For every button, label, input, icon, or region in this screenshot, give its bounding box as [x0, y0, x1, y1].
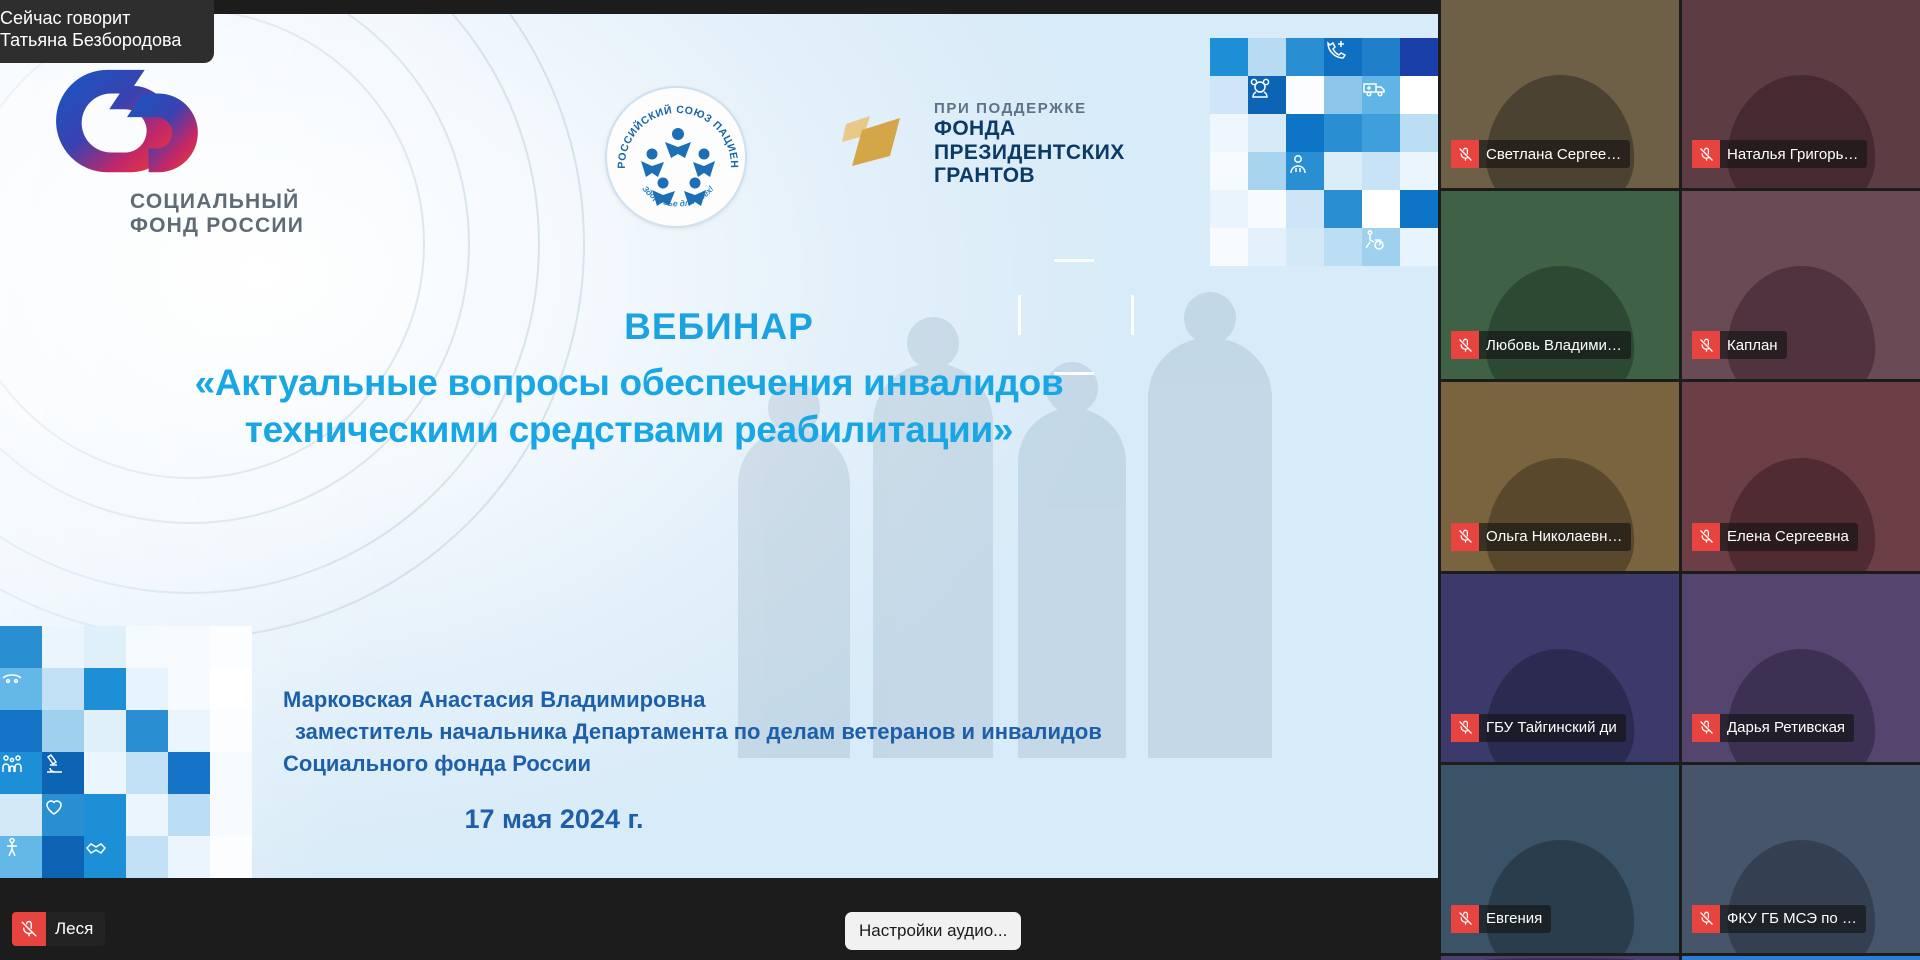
family-group-icon	[0, 752, 42, 794]
mic-muted-icon	[1692, 905, 1720, 933]
sfr-monogram-icon	[40, 60, 208, 188]
active-speaker-name: Татьяна Безбородова	[0, 30, 200, 52]
mic-muted-icon	[1451, 905, 1479, 933]
participant-tile[interactable]: Наталья Григорь…	[1682, 0, 1920, 188]
grants-logo-text: ПРИ ПОДДЕРЖКЕ ФОНДА ПРЕЗИДЕНТСКИХ ГРАНТО…	[934, 100, 1125, 188]
sfr-logo-line2: ФОНД РОССИИ	[130, 214, 308, 238]
participant-name-plate: Наталья Григорь…	[1692, 140, 1867, 168]
slide-speaker-block: Марковская Анастасия Владимировна замест…	[283, 684, 1102, 780]
participant-name-plate: Елена Сергеевна	[1692, 523, 1858, 551]
slide-kicker: ВЕБИНАР	[0, 306, 1438, 348]
participant-tile[interactable]: Каплан	[1682, 191, 1920, 379]
participant-tile[interactable]: Евгения	[1441, 765, 1679, 953]
audio-settings-tooltip[interactable]: Настройки аудио...	[845, 912, 1021, 950]
grants-line1: ФОНДА	[934, 117, 1125, 141]
presentation-slide: СОЦИАЛЬНЫЙ ФОНД РОССИИ ВСЕРОССИЙСКИЙ СОЮ…	[0, 14, 1438, 878]
participant-name-plate: ФКУ ГБ МСЭ по …	[1692, 905, 1866, 933]
participant-tile[interactable]: Дарья Ретивская	[1682, 574, 1920, 762]
active-speaker-toast: Сейчас говорит Татьяна Безбородова	[0, 0, 214, 63]
participant-name: Каплан	[1720, 337, 1787, 354]
participant-name: ФКУ ГБ МСЭ по …	[1720, 910, 1866, 927]
mic-muted-icon[interactable]	[12, 912, 46, 946]
sfr-logo-line1: СОЦИАЛЬНЫЙ	[130, 190, 308, 214]
mic-muted-icon	[1692, 714, 1720, 742]
slide-date: 17 мая 2024 г.	[0, 804, 1108, 835]
grants-line2: ПРЕЗИДЕНТСКИХ	[934, 141, 1125, 165]
mic-muted-icon	[1451, 140, 1479, 168]
svg-text:Здоровье для всех!: Здоровье для всех!	[640, 184, 716, 209]
participant-tile[interactable]: Елена Сергеевна	[1682, 382, 1920, 570]
participant-name-plate: Евгения	[1451, 905, 1551, 933]
grants-mark-icon	[840, 110, 916, 172]
participant-gallery-pager[interactable]: ‹ ›	[1682, 956, 1920, 960]
participant-name: Евгения	[1479, 910, 1551, 927]
participant-tile[interactable]: КСПАНМО	[1441, 956, 1679, 960]
svg-text:ВСЕРОССИЙСКИЙ СОЮЗ ПАЦИЕНТОВ: ВСЕРОССИЙСКИЙ СОЮЗ ПАЦИЕНТОВ	[607, 88, 740, 169]
participant-tile[interactable]: Ольга Николаевн…	[1441, 382, 1679, 570]
chevron-right-icon[interactable]: ›	[1896, 956, 1906, 960]
participant-name: Светлана Сергее…	[1479, 146, 1630, 163]
grants-sup: ПРИ ПОДДЕРЖКЕ	[934, 100, 1125, 117]
mic-muted-icon	[1451, 714, 1479, 742]
participant-name: Ольга Николаевн…	[1479, 528, 1631, 545]
shared-screen-stage[interactable]: СОЦИАЛЬНЫЙ ФОНД РОССИИ ВСЕРОССИЙСКИЙ СОЮ…	[0, 0, 1438, 960]
speaker-role-line2: Социального фонда России	[283, 748, 1102, 780]
participant-grid: Светлана Сергее… Наталья Григорь… Любовь…	[1438, 0, 1920, 960]
mic-muted-icon	[1451, 331, 1479, 359]
vsp-logo: ВСЕРОССИЙСКИЙ СОЮЗ ПАЦИЕНТОВ Здоровье дл…	[605, 86, 747, 228]
presidential-grants-logo: ПРИ ПОДДЕРЖКЕ ФОНДА ПРЕЗИДЕНТСКИХ ГРАНТО…	[840, 100, 1125, 188]
crowd-silhouettes	[698, 198, 1318, 758]
self-name-plate: Леся	[12, 912, 105, 946]
mic-muted-icon	[1451, 523, 1479, 551]
video-conference-window: СОЦИАЛЬНЫЙ ФОНД РОССИИ ВСЕРОССИЙСКИЙ СОЮ…	[0, 0, 1920, 960]
self-name: Леся	[46, 919, 105, 939]
active-speaker-label: Сейчас говорит	[0, 8, 200, 30]
speaker-role-line1: заместитель начальника Департамента по д…	[283, 716, 1102, 748]
participant-name: ГБУ Тайгинский ди	[1479, 719, 1626, 736]
ambulance-icon	[1362, 76, 1400, 114]
participant-name-plate: Каплан	[1692, 331, 1787, 359]
patient-person-icon	[1286, 152, 1324, 190]
emergency-call-icon	[1324, 38, 1362, 76]
vsp-emblem-icon: ВСЕРОССИЙСКИЙ СОЮЗ ПАЦИЕНТОВ Здоровье дл…	[607, 88, 749, 230]
chevron-left-icon[interactable]: ‹	[1696, 956, 1706, 960]
participant-name: Дарья Ретивская	[1720, 719, 1854, 736]
pixel-mosaic-top-right	[1210, 38, 1438, 266]
sfr-logo-text: СОЦИАЛЬНЫЙ ФОНД РОССИИ	[130, 190, 308, 237]
health-shield-icon	[0, 668, 42, 710]
grants-line3: ГРАНТОВ	[934, 164, 1125, 188]
participant-name: Наталья Григорь…	[1720, 146, 1867, 163]
participant-name-plate: Дарья Ретивская	[1692, 714, 1854, 742]
speaker-name: Марковская Анастасия Владимировна	[283, 684, 1102, 716]
participant-name-plate: Ольга Николаевн…	[1451, 523, 1631, 551]
participant-name: Елена Сергеевна	[1720, 528, 1858, 545]
participant-name-plate: ГБУ Тайгинский ди	[1451, 714, 1626, 742]
pixel-mosaic-bottom-left	[0, 626, 252, 878]
participant-tile[interactable]: ГБУ Тайгинский ди	[1441, 574, 1679, 762]
participant-name: Любовь Владими…	[1479, 337, 1631, 354]
participant-tile[interactable]: ФКУ ГБ МСЭ по …	[1682, 765, 1920, 953]
sfr-logo: СОЦИАЛЬНЫЙ ФОНД РОССИИ	[26, 60, 308, 237]
wheelchair-assist-icon	[1362, 228, 1400, 266]
accessibility-person-icon	[0, 836, 42, 878]
mic-muted-icon	[1692, 140, 1720, 168]
handshake-support-icon	[84, 836, 126, 878]
teddy-bear-icon	[1248, 76, 1286, 114]
participant-name-plate: Светлана Сергее…	[1451, 140, 1630, 168]
participant-name-plate: Любовь Владими…	[1451, 331, 1631, 359]
slide-title: «Актуальные вопросы обеспечения инвалидо…	[150, 359, 1108, 454]
microscope-icon	[42, 752, 84, 794]
mic-muted-icon	[1692, 331, 1720, 359]
participant-tile[interactable]: Светлана Сергее…	[1441, 0, 1679, 188]
participant-tile[interactable]: Любовь Владими…	[1441, 191, 1679, 379]
mic-muted-icon	[1692, 523, 1720, 551]
